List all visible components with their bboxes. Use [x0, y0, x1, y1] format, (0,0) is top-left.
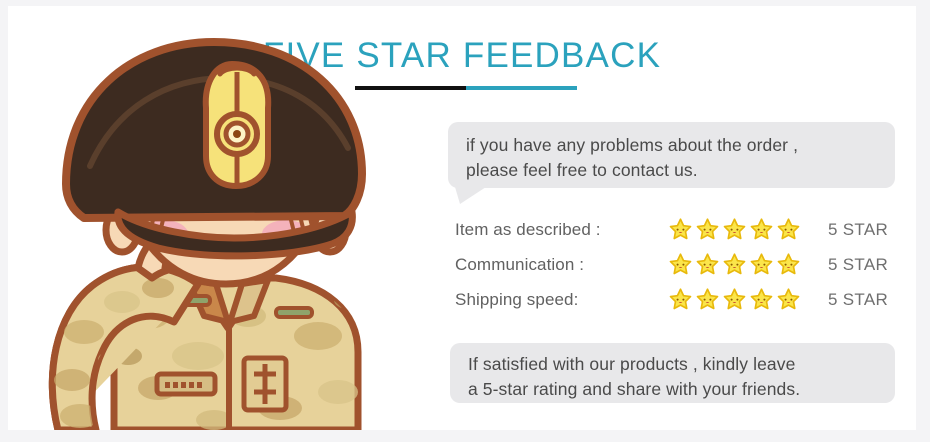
review-request-line-1: If satisfied with our products , kindly …	[468, 352, 877, 377]
feedback-banner: FIVE STAR FEEDBACK	[0, 0, 930, 442]
rating-label: Communication :	[455, 255, 668, 275]
ratings-list: Item as described : 5 STAR Communication…	[455, 212, 905, 317]
rating-row: Communication : 5 STAR	[455, 247, 905, 282]
star-icon	[722, 287, 747, 312]
rating-value: 5 STAR	[808, 255, 888, 275]
contact-message-line-1: if you have any problems about the order…	[466, 133, 877, 158]
rating-label: Shipping speed:	[455, 290, 668, 310]
rating-row: Shipping speed: 5 STAR	[455, 282, 905, 317]
star-icon	[668, 287, 693, 312]
rating-row: Item as described : 5 STAR	[455, 212, 905, 247]
star-icon	[722, 252, 747, 277]
star-icon	[695, 287, 720, 312]
title-underline-teal	[466, 86, 577, 90]
review-request-bubble: If satisfied with our products , kindly …	[450, 343, 895, 403]
uniform-name-tag	[157, 374, 215, 394]
rating-label: Item as described :	[455, 220, 668, 240]
star-icon	[722, 217, 747, 242]
star-icon	[776, 252, 801, 277]
rating-value: 5 STAR	[808, 290, 888, 310]
contact-message-bubble: if you have any problems about the order…	[448, 122, 895, 188]
cap-emblem	[206, 64, 268, 186]
star-icon	[776, 217, 801, 242]
rating-stars	[668, 252, 808, 277]
star-icon	[749, 217, 774, 242]
rating-stars	[668, 217, 808, 242]
star-icon	[749, 252, 774, 277]
uniform-chest-badge	[244, 358, 286, 410]
rating-value: 5 STAR	[808, 220, 888, 240]
contact-message-line-2: please feel free to contact us.	[466, 158, 877, 183]
speech-bubble-tail	[455, 187, 486, 204]
banner-card: FIVE STAR FEEDBACK	[8, 6, 916, 430]
soldier-illustration	[18, 16, 398, 430]
star-icon	[668, 217, 693, 242]
star-icon	[695, 252, 720, 277]
rating-stars	[668, 287, 808, 312]
star-icon	[668, 252, 693, 277]
star-icon	[776, 287, 801, 312]
star-icon	[695, 217, 720, 242]
review-request-line-2: a 5-star rating and share with your frie…	[468, 377, 877, 402]
star-icon	[749, 287, 774, 312]
